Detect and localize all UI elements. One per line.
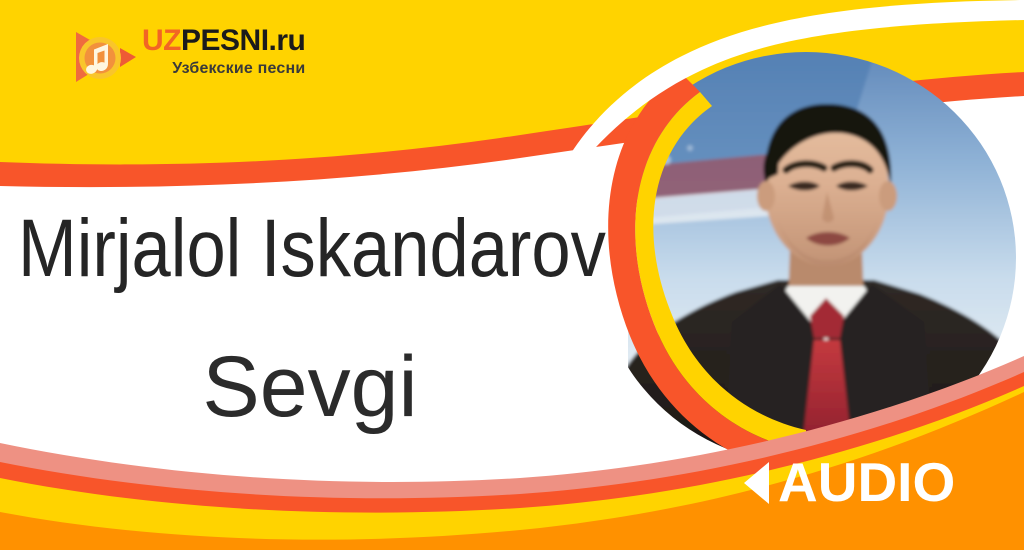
logo-text-block: UZPESNI.ru Узбекские песни	[142, 24, 305, 77]
music-note-play-icon	[70, 26, 138, 88]
logo-tagline: Узбекские песни	[142, 61, 305, 77]
play-left-triangle-icon	[744, 462, 769, 504]
logo-wordmark-pesni: PESNI	[181, 24, 269, 57]
song-title: Sevgi	[0, 337, 620, 437]
logo-wordmark-uz: UZ	[142, 24, 181, 57]
logo-wordmark: UZPESNI.ru	[142, 26, 305, 56]
site-logo[interactable]: UZPESNI.ru Узбекские песни	[70, 24, 370, 96]
artist-name: Mirjalol Iskandarov	[18, 204, 568, 294]
album-cover: UZPESNI.ru Узбекские песни Mirjalol Iska…	[0, 0, 1024, 550]
artist-photo	[628, 52, 1024, 464]
audio-badge: AUDIO	[744, 455, 955, 510]
logo-wordmark-ru: .ru	[269, 24, 306, 57]
artist-photo-container	[628, 52, 1024, 464]
audio-badge-label: AUDIO	[778, 455, 955, 510]
